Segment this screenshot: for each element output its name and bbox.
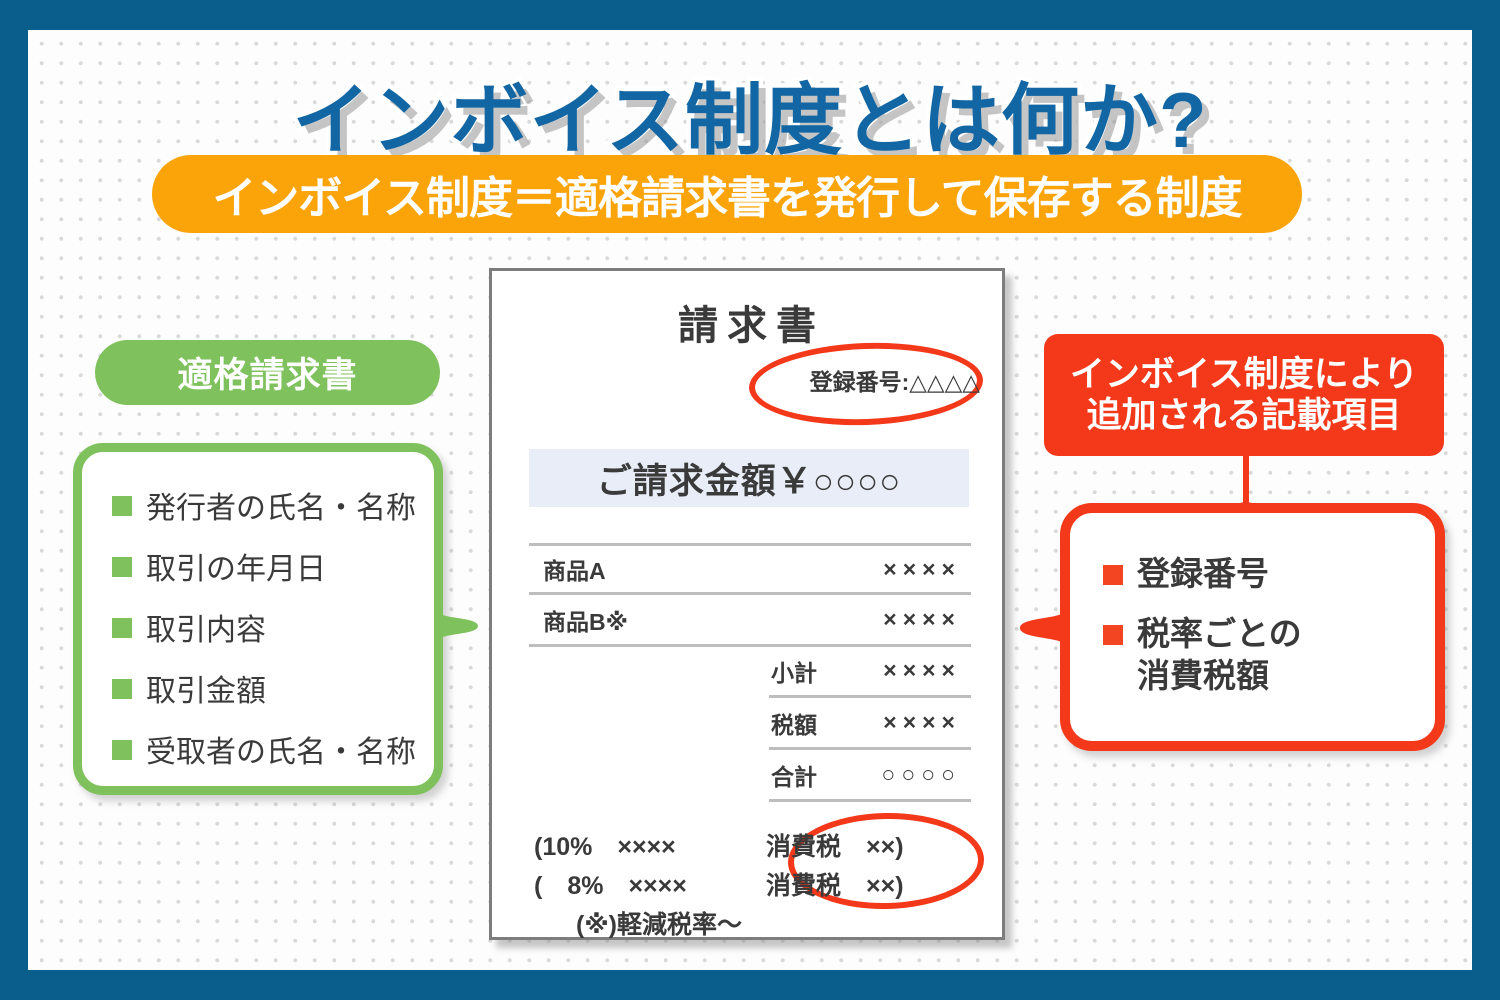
list-item-label: 取引金額 [146,666,266,710]
line-item-name: 商品B※ [529,603,628,637]
list-item: 取引の年月日 [112,535,442,596]
tax-rate-row: ( 8% ×××× 消費税 ××) [534,864,974,903]
invoice-title: 請求書 [492,293,1002,351]
invoice-registration-number: 登録番号:△△△△ [810,363,980,397]
invoice-document: 請求書 登録番号:△△△△ ご請求金額￥○○○○ 商品A ×××× 商品B※ ×… [489,268,1005,940]
total-name: 税額 [769,706,817,740]
added-items-header-line-2: 追加される記載項目 [1086,395,1401,436]
required-items-list: 発行者の氏名・名称 取引の年月日 取引内容 取引金額 受取者の氏名・名称 [112,474,442,779]
line-item-value: ×××× [883,556,971,583]
total-name: 小計 [769,654,817,688]
list-item-label: 取引内容 [146,605,266,649]
added-items-list: 登録番号 税率ごとの 消費税額 [1103,553,1433,716]
list-item-label: 取引の年月日 [146,544,326,588]
tax-rate-right: 消費税 ××) [766,827,966,863]
list-item-label: 受取者の氏名・名称 [146,727,416,771]
list-item: 税率ごとの 消費税額 [1103,613,1433,697]
page-title: インボイス制度とは何か? [28,58,1472,170]
added-items-box: 登録番号 税率ごとの 消費税額 [1060,503,1445,751]
tax-rate-left: (10% ×××× [534,827,766,863]
list-item-label: 発行者の氏名・名称 [146,483,416,527]
total-value: ×××× [883,709,971,736]
tax-rate-right: 消費税 ××) [766,866,966,902]
line-item-value: ×××× [883,606,971,633]
square-bullet-icon [1103,565,1123,585]
list-item: 取引金額 [112,657,442,718]
list-item: 発行者の氏名・名称 [112,474,442,535]
invoice-tax-breakdown: (10% ×××× 消費税 ××) ( 8% ×××× 消費税 ××) (※)軽… [534,825,974,943]
square-bullet-icon [112,679,132,699]
added-items-header: インボイス制度により 追加される記載項目 [1044,334,1444,456]
list-item-label: 税率ごとの 消費税額 [1137,613,1302,697]
square-bullet-icon [112,740,132,760]
table-row: 商品A ×××× [529,543,971,595]
total-value: ○○○○ [881,761,971,788]
square-bullet-icon [112,618,132,638]
square-bullet-icon [112,557,132,577]
reduced-tax-note: (※)軽減税率〜 [534,903,974,943]
tax-rate-left: ( 8% ×××× [534,866,766,902]
qualified-invoice-pill-label: 適格請求書 [177,347,357,398]
table-row: 合計 ○○○○ [769,750,971,802]
square-bullet-icon [1103,625,1123,645]
line-item-name: 商品A [529,552,606,586]
invoice-totals: 小計 ×××× 税額 ×××× 合計 ○○○○ [769,646,971,802]
table-row: 商品B※ ×××× [529,595,971,647]
invoice-amount-band: ご請求金額￥○○○○ [529,449,969,507]
added-items-header-line-1: インボイス制度により [1070,354,1418,395]
total-name: 合計 [769,758,817,792]
square-bullet-icon [112,496,132,516]
list-item: 受取者の氏名・名称 [112,718,442,779]
invoice-amount-label: ご請求金額￥○○○○ [597,453,902,504]
definition-banner-text: インボイス制度＝適格請求書を発行して保存する制度 [212,162,1241,226]
definition-banner: インボイス制度＝適格請求書を発行して保存する制度 [152,155,1302,233]
table-row: 小計 ×××× [769,646,971,698]
list-item: 取引内容 [112,596,442,657]
poster-root: インボイス制度とは何か? インボイス制度＝適格請求書を発行して保存する制度 適格… [0,0,1500,1000]
invoice-line-items: 商品A ×××× 商品B※ ×××× [529,543,971,647]
table-row: 税額 ×××× [769,698,971,750]
list-item-label: 登録番号 [1137,553,1269,595]
list-item: 登録番号 [1103,553,1433,595]
tax-rate-row: (10% ×××× 消費税 ××) [534,825,974,864]
required-items-box: 発行者の氏名・名称 取引の年月日 取引内容 取引金額 受取者の氏名・名称 [73,443,443,795]
total-value: ×××× [883,657,971,684]
qualified-invoice-pill: 適格請求書 [95,340,440,405]
